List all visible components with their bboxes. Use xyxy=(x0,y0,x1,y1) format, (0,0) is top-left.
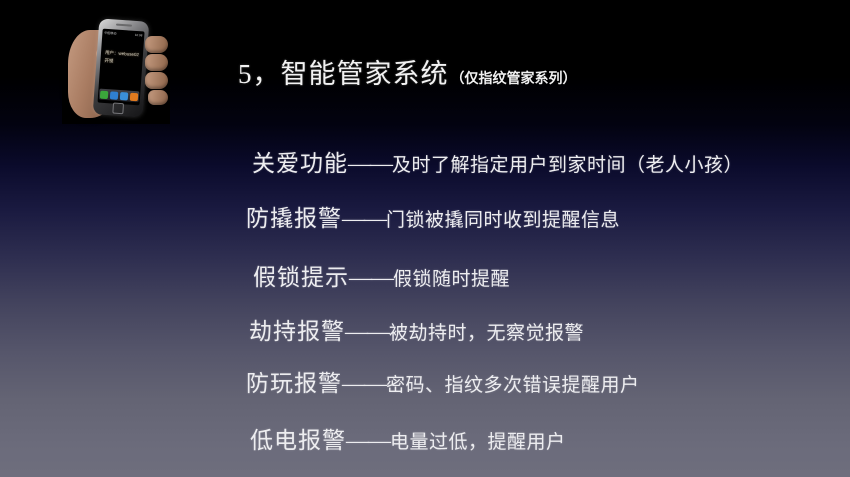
feature-dash: —— xyxy=(349,265,393,290)
feature-dash: —— xyxy=(346,428,390,453)
feature-title: 防玩报警 xyxy=(246,371,342,396)
feature-line: 防撬报警——门锁被撬同时收到提醒信息 xyxy=(246,199,620,233)
feature-line: 低电报警——电量过低，提醒用户 xyxy=(250,421,566,455)
feature-description: 门锁被撬同时收到提醒信息 xyxy=(386,210,620,231)
feature-title: 低电报警 xyxy=(250,428,346,453)
feature-line: 关爱功能——及时了解指定用户到家时间（老人小孩） xyxy=(252,144,743,178)
feature-title: 防撬报警 xyxy=(246,206,342,231)
feature-dash: —— xyxy=(342,206,386,231)
feature-title: 假锁提示 xyxy=(253,265,349,290)
feature-title: 劫持报警 xyxy=(249,319,345,344)
feature-description: 及时了解指定用户到家时间（老人小孩） xyxy=(392,155,743,176)
feature-dash: —— xyxy=(348,151,392,176)
feature-description: 假锁随时提醒 xyxy=(393,269,510,290)
feature-line: 假锁提示——假锁随时提醒 xyxy=(253,258,510,292)
feature-line: 劫持报警——被劫持时，无察觉报警 xyxy=(249,312,584,346)
feature-title: 关爱功能 xyxy=(252,151,348,176)
presentation-slide: 中国移动 10:08 用户：webuse02 开锁 5，智能管家系统 （仅指纹管… xyxy=(0,0,850,477)
feature-description: 密码、指纹多次错误提醒用户 xyxy=(386,375,640,396)
feature-line: 防玩报警——密码、指纹多次错误提醒用户 xyxy=(246,364,640,398)
feature-description: 电量过低，提醒用户 xyxy=(390,432,566,453)
feature-dash: —— xyxy=(345,319,389,344)
feature-list: 关爱功能——及时了解指定用户到家时间（老人小孩）防撬报警——门锁被撬同时收到提醒… xyxy=(0,0,850,477)
feature-dash: —— xyxy=(342,371,386,396)
feature-description: 被劫持时，无察觉报警 xyxy=(389,323,584,344)
